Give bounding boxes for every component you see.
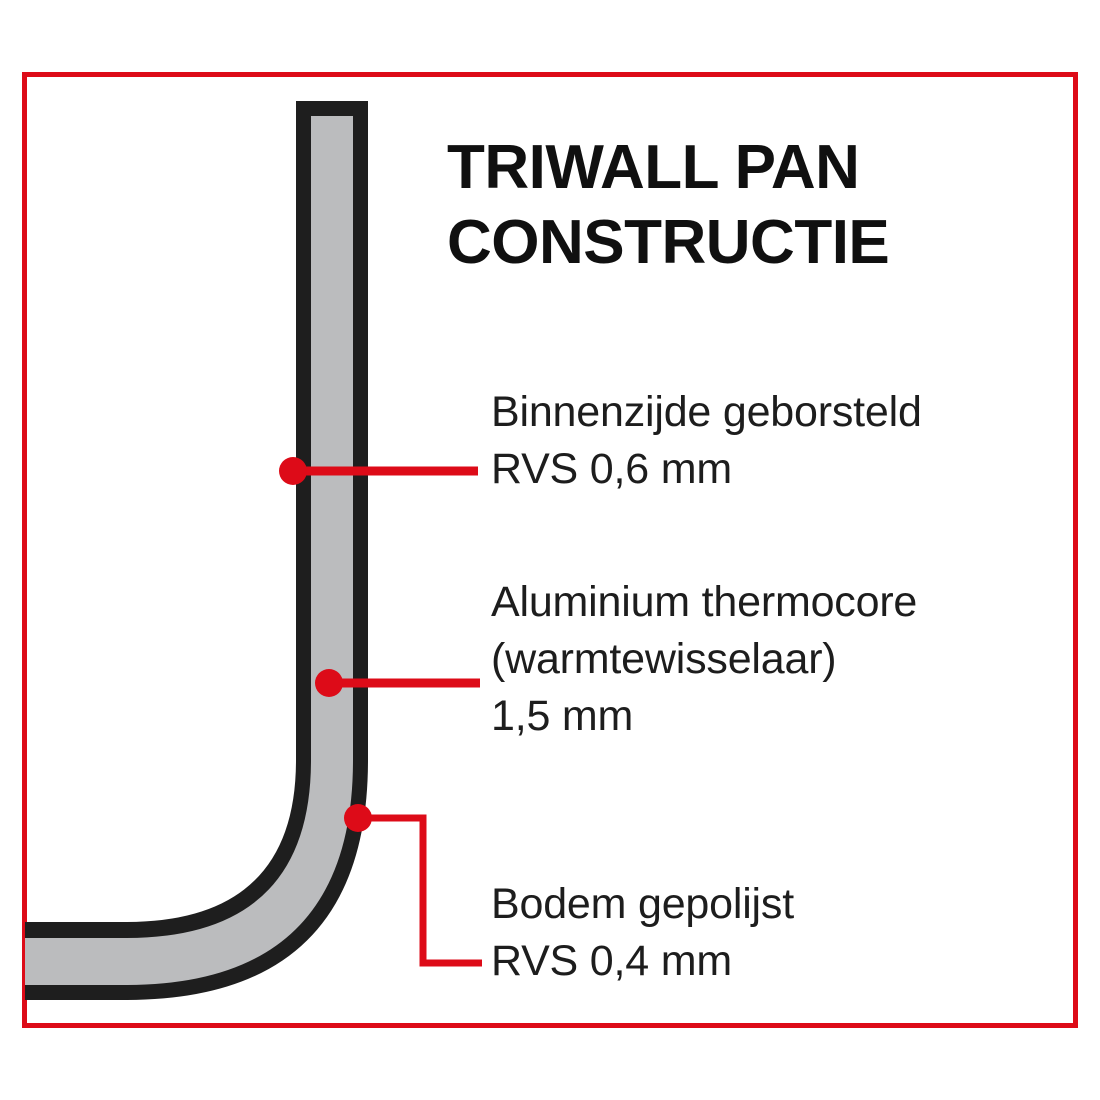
callout-aluminium-core-line-2: (warmtewisselaar) (491, 631, 917, 688)
marker-dot-aluminium-core (315, 669, 343, 697)
callout-inner-steel: Binnenzijde geborsteld RVS 0,6 mm (491, 384, 922, 498)
callout-base-steel-line-1: Bodem gepolijst (491, 876, 794, 933)
marker-dot-inner-steel (279, 457, 307, 485)
callout-inner-steel-line-2: RVS 0,6 mm (491, 441, 922, 498)
callout-aluminium-core-line-1: Aluminium thermocore (491, 574, 917, 631)
callout-aluminium-core-line-3: 1,5 mm (491, 688, 917, 745)
page-title-line-2: CONSTRUCTIE (447, 205, 1067, 280)
callout-inner-steel-line-1: Binnenzijde geborsteld (491, 384, 922, 441)
pan-wall-group (25, 101, 368, 1000)
callout-base-steel: Bodem gepolijst RVS 0,4 mm (491, 876, 794, 990)
leader-line-base-steel (344, 804, 482, 963)
callout-aluminium-core: Aluminium thermocore (warmtewisselaar) 1… (491, 574, 917, 746)
marker-dot-base-steel (344, 804, 372, 832)
callout-base-steel-line-2: RVS 0,4 mm (491, 933, 794, 990)
leader-3-path (358, 818, 482, 963)
page-title: TRIWALL PAN CONSTRUCTIE (447, 130, 1067, 280)
construction-infographic: TRIWALL PAN CONSTRUCTIE Binnenzijde gebo… (0, 0, 1100, 1100)
page-title-line-1: TRIWALL PAN (447, 130, 1067, 205)
